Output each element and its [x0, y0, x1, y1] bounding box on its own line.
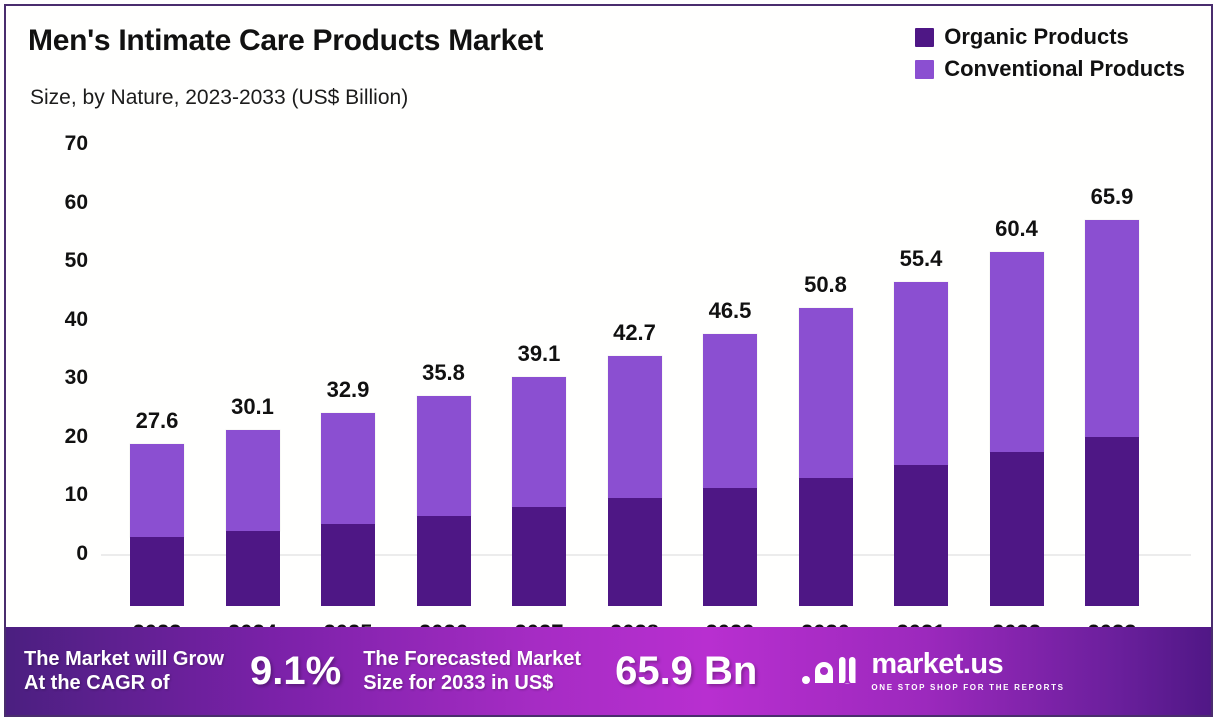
y-axis-tick-30: 30: [28, 366, 88, 390]
bar-value-label-2029: 46.5: [670, 298, 790, 324]
bar-segment-organic-2032[interactable]: [990, 452, 1044, 606]
banner-cagr-value-cell: 9.1%: [250, 649, 341, 694]
bar-group-2025[interactable]: 32.92025: [321, 58, 375, 606]
banner-cagr-value: 9.1%: [250, 649, 341, 694]
brand-logo-name: market.us: [871, 650, 1003, 679]
bar-stack-2033[interactable]: [1085, 220, 1139, 606]
bar-value-label-2028: 42.7: [575, 320, 695, 346]
bar-segment-organic-2026[interactable]: [417, 516, 471, 606]
y-axis-tick-0: 0: [28, 542, 88, 566]
bar-stack-2032[interactable]: [990, 252, 1044, 606]
bar-stack-2027[interactable]: [512, 377, 566, 606]
bar-value-label-2033: 65.9: [1052, 184, 1172, 210]
bar-stack-2028[interactable]: [608, 356, 662, 606]
bar-segment-conventional-2029[interactable]: [703, 334, 757, 489]
bar-segment-conventional-2032[interactable]: [990, 252, 1044, 452]
banner-forecast-caption-line2: Size for 2033 in US$: [363, 671, 581, 695]
y-axis-tick-40: 40: [28, 308, 88, 332]
y-axis-tick-70: 70: [28, 132, 88, 156]
y-axis-tick-10: 10: [28, 483, 88, 507]
bar-group-2024[interactable]: 30.12024: [226, 58, 280, 606]
bottom-banner: The Market will Grow At the CAGR of 9.1%…: [6, 627, 1213, 715]
bar-segment-conventional-2028[interactable]: [608, 356, 662, 498]
bar-segment-organic-2030[interactable]: [799, 478, 853, 606]
bar-group-2026[interactable]: 35.82026: [417, 58, 471, 606]
bar-stack-2031[interactable]: [894, 282, 948, 606]
bar-group-2032[interactable]: 60.42032: [990, 58, 1044, 606]
bar-value-label-2032: 60.4: [957, 216, 1077, 242]
banner-cagr-caption-line2: At the CAGR of: [24, 671, 224, 695]
bar-group-2031[interactable]: 55.42031: [894, 58, 948, 606]
bar-value-label-2031: 55.4: [861, 246, 981, 272]
bar-group-2029[interactable]: 46.52029: [703, 58, 757, 606]
bar-segment-organic-2025[interactable]: [321, 524, 375, 606]
bar-segment-conventional-2026[interactable]: [417, 396, 471, 516]
brand-logo-tagline: ONE STOP SHOP FOR THE REPORTS: [871, 683, 1064, 692]
banner-forecast-caption: The Forecasted Market Size for 2033 in U…: [363, 647, 581, 695]
bar-group-2028[interactable]: 42.72028: [608, 58, 662, 606]
y-axis-tick-20: 20: [28, 425, 88, 449]
bar-segment-conventional-2025[interactable]: [321, 413, 375, 524]
bar-group-2033[interactable]: 65.92033: [1085, 58, 1139, 606]
bar-segment-organic-2023[interactable]: [130, 537, 184, 606]
bar-group-2027[interactable]: 39.12027: [512, 58, 566, 606]
bar-segment-conventional-2031[interactable]: [894, 282, 948, 465]
bar-stack-2030[interactable]: [799, 308, 853, 606]
bar-stack-2025[interactable]: [321, 413, 375, 606]
bar-group-2030[interactable]: 50.82030: [799, 58, 853, 606]
bar-value-label-2030: 50.8: [766, 272, 886, 298]
chart-infographic-page: Men's Intimate Care Products Market Size…: [0, 0, 1217, 721]
bar-segment-organic-2031[interactable]: [894, 465, 948, 606]
banner-forecast-caption-line1: The Forecasted Market: [363, 647, 581, 671]
banner-forecast-value: 65.9 Bn: [615, 649, 757, 694]
bar-segment-organic-2033[interactable]: [1085, 437, 1139, 606]
market-us-logo-icon: [801, 649, 859, 694]
bar-group-2023[interactable]: 27.62023: [130, 58, 184, 606]
bar-segment-conventional-2024[interactable]: [226, 430, 280, 531]
banner-forecast-value-cell: 65.9 Bn: [615, 649, 757, 694]
y-axis-tick-50: 50: [28, 249, 88, 273]
banner-cagr-caption: The Market will Grow At the CAGR of: [24, 647, 224, 695]
bar-stack-2029[interactable]: [703, 334, 757, 606]
chart-card: Men's Intimate Care Products Market Size…: [4, 4, 1213, 717]
bar-segment-organic-2027[interactable]: [512, 507, 566, 606]
bar-segment-organic-2024[interactable]: [226, 531, 280, 606]
bar-segment-conventional-2023[interactable]: [130, 444, 184, 537]
y-axis-tick-60: 60: [28, 191, 88, 215]
banner-cagr-caption-line1: The Market will Grow: [24, 647, 224, 671]
bar-stack-2023[interactable]: [130, 444, 184, 606]
bar-stack-2026[interactable]: [417, 396, 471, 606]
brand-logo[interactable]: market.us ONE STOP SHOP FOR THE REPORTS: [801, 649, 1064, 694]
bar-series-container: 27.6202330.1202432.9202535.8202639.12027…: [6, 6, 1213, 606]
bar-segment-organic-2029[interactable]: [703, 488, 757, 606]
chart-plot-area: 27.6202330.1202432.9202535.8202639.12027…: [6, 6, 1213, 606]
bar-stack-2024[interactable]: [226, 430, 280, 606]
bar-segment-conventional-2027[interactable]: [512, 377, 566, 507]
bar-segment-organic-2028[interactable]: [608, 498, 662, 606]
bar-segment-conventional-2033[interactable]: [1085, 220, 1139, 437]
bar-segment-conventional-2030[interactable]: [799, 308, 853, 477]
